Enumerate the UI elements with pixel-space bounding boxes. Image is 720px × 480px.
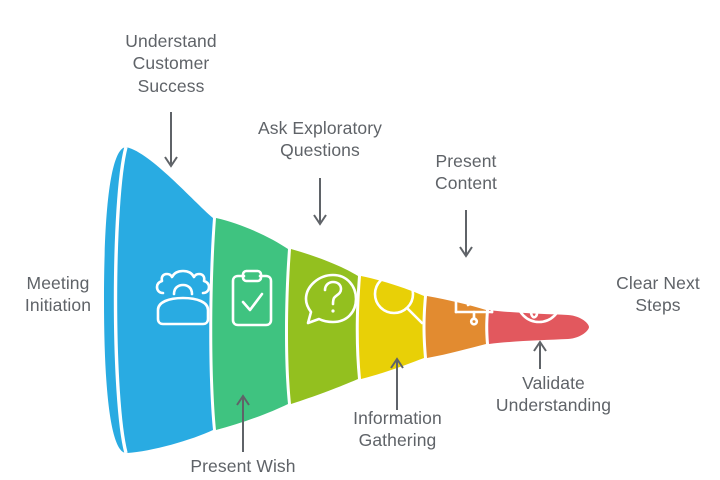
stage-label-2: Present Wish	[173, 455, 313, 477]
stage-label-5: Present Content	[406, 150, 526, 195]
stage-label-1: Understand Customer Success	[101, 30, 241, 97]
funnel-segment-3-shape	[288, 249, 358, 404]
funnel-segment-3[interactable]	[288, 249, 358, 404]
arrow-stage-3	[314, 178, 326, 224]
stage-label-6: Validate Understanding	[481, 372, 626, 417]
arrow-stage-5	[460, 210, 472, 256]
arrow-stage-6	[534, 342, 546, 369]
arrow-stage-1	[165, 112, 177, 166]
funnel-segment-4-shape	[359, 276, 424, 379]
stage-label-4: Information Gathering	[325, 407, 470, 452]
funnel-segment-4[interactable]	[359, 276, 424, 379]
edge-label-right: Clear Next Steps	[600, 272, 716, 317]
edge-label-left: Meeting Initiation	[8, 272, 108, 317]
stage-label-3: Ask Exploratory Questions	[238, 117, 402, 162]
funnel-diagram: Meeting Initiation Clear Next Steps Unde…	[0, 0, 720, 480]
funnel-segment-6-shape	[488, 310, 589, 344]
arrow-stage-4	[391, 359, 403, 410]
funnel-segment-6[interactable]	[488, 310, 589, 344]
